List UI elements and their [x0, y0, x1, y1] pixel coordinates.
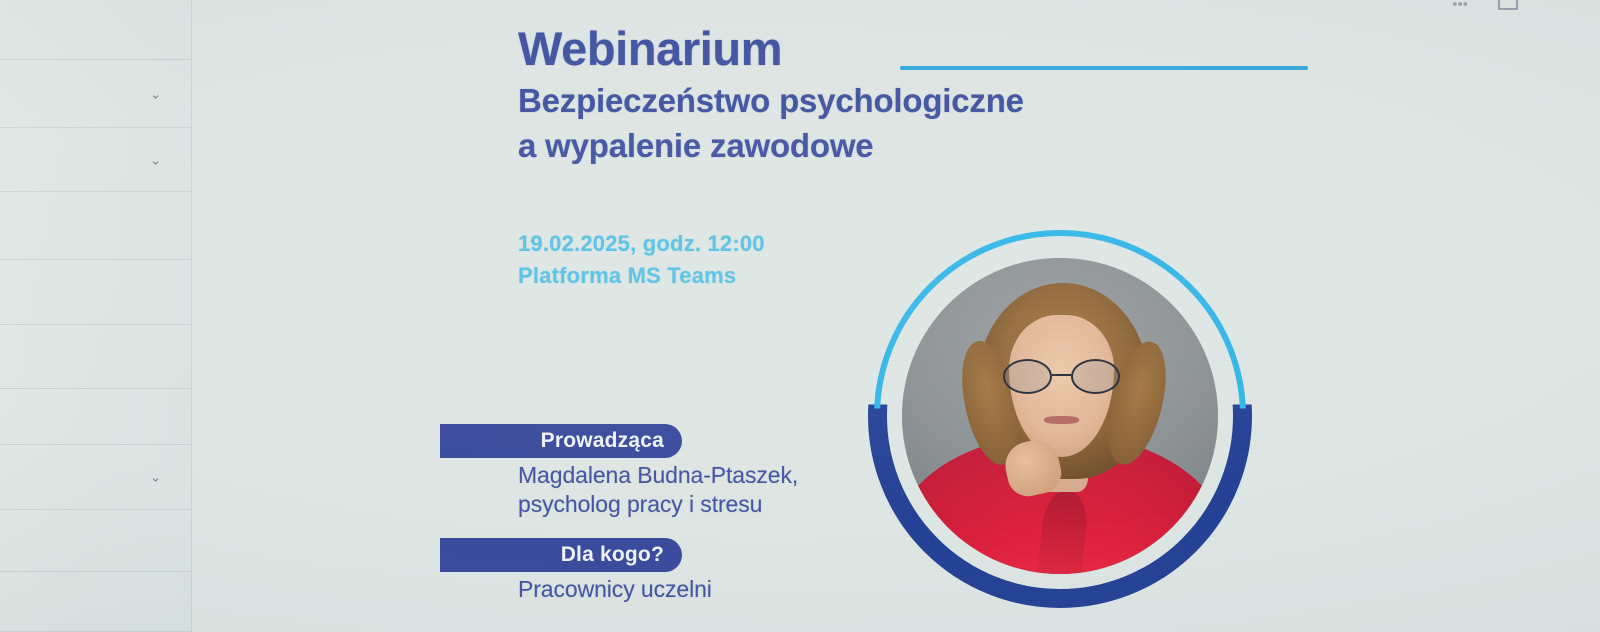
audience-badge: Dla kogo? [440, 538, 682, 572]
host-block: Prowadząca Magdalena Budna-Ptaszek, psyc… [440, 424, 798, 520]
event-platform: Platforma MS Teams [518, 260, 765, 292]
avatar [902, 258, 1218, 574]
chevron-down-icon[interactable]: ⌄ [150, 87, 161, 100]
restore-window-icon[interactable] [1498, 0, 1518, 10]
sidebar-row[interactable] [0, 389, 191, 445]
window-controls: ••• [1452, 0, 1518, 12]
chevron-down-icon[interactable]: ⌄ [150, 153, 161, 166]
glasses-icon [1003, 359, 1120, 394]
chevron-down-icon[interactable]: ⌄ [150, 471, 161, 484]
event-meta: 19.02.2025, godz. 12:00 Platforma MS Tea… [518, 228, 765, 292]
sidebar-row[interactable]: ⌄ [0, 445, 191, 510]
sidebar-row[interactable]: ⌄ [0, 128, 191, 192]
sidebar-row[interactable] [0, 510, 191, 572]
accent-rule [900, 66, 1308, 70]
event-date: 19.02.2025, godz. 12:00 [518, 228, 765, 260]
audience-value: Pracownicy uczelni [518, 575, 712, 604]
audience-details: Pracownicy uczelni [440, 575, 712, 604]
headline-block: Webinarium Bezpieczeństwo psychologiczne… [518, 24, 1218, 168]
host-details: Magdalena Budna-Ptaszek, psycholog pracy… [440, 461, 798, 520]
host-name: Magdalena Budna-Ptaszek, [518, 461, 798, 490]
sidebar-row[interactable] [0, 192, 191, 260]
subtitle-line-2: a wypalenie zawodowe [518, 124, 1218, 169]
sidebar: ⌄ ⌄ ⌄ [0, 0, 192, 632]
lens-left [1003, 359, 1052, 394]
sidebar-row[interactable] [0, 0, 191, 60]
lens-right [1071, 359, 1120, 394]
audience-block: Dla kogo? Pracownicy uczelni [440, 538, 712, 604]
glasses-bridge [1052, 374, 1071, 377]
slide-stage: Webinarium Bezpieczeństwo psychologiczne… [192, 0, 1600, 632]
sidebar-row[interactable]: ⌄ [0, 60, 191, 128]
sidebar-row[interactable] [0, 572, 191, 632]
sidebar-row[interactable] [0, 260, 191, 325]
sidebar-row[interactable] [0, 325, 191, 389]
subtitle-line-1: Bezpieczeństwo psychologiczne [518, 79, 1218, 124]
screenshot-root: ⌄ ⌄ ⌄ [0, 0, 1600, 632]
portrait-with-ring [874, 230, 1246, 602]
photo-mouth [1044, 416, 1079, 424]
host-badge-label: Prowadząca [541, 429, 664, 453]
audience-badge-label: Dla kogo? [561, 543, 664, 567]
more-options-icon[interactable]: ••• [1452, 0, 1468, 12]
host-badge: Prowadząca [440, 424, 682, 458]
host-role: psycholog pracy i stresu [518, 490, 798, 519]
